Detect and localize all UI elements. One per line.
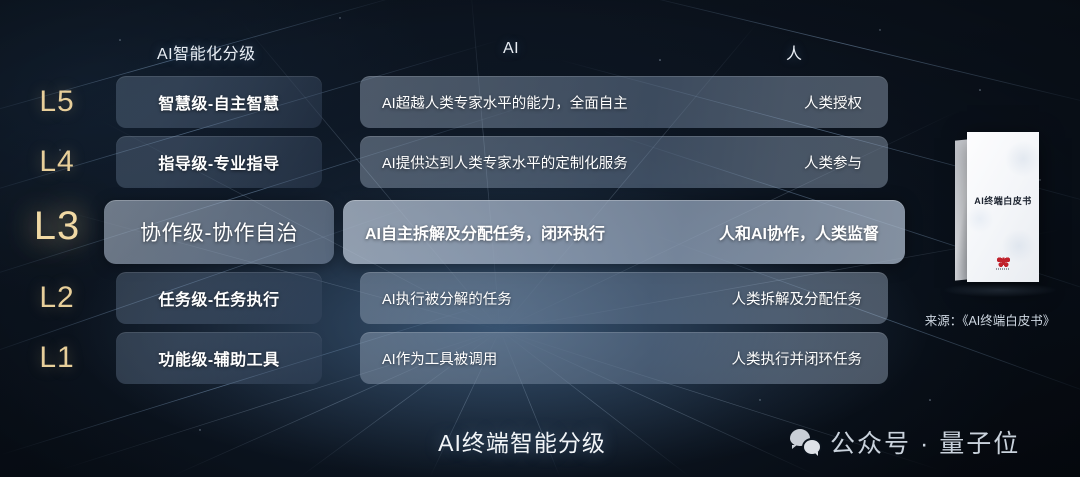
level-row-l3[interactable]: L3 协作级-协作自治 AI自主拆解及分配任务，闭环执行 人和AI协作，人类监督 bbox=[0, 200, 1080, 264]
chart-title-text: AI终端智能分级 bbox=[438, 430, 606, 456]
human-description: 人类执行并闭环任务 bbox=[732, 348, 863, 369]
level-detail-pill-l3[interactable]: AI自主拆解及分配任务，闭环执行 人和AI协作，人类监督 bbox=[343, 200, 905, 264]
level-detail-pill-l2[interactable]: AI执行被分解的任务 人类拆解及分配任务 bbox=[360, 272, 888, 324]
column-header-level: AI智能化分级 bbox=[157, 40, 256, 64]
level-row-l1[interactable]: L1 功能级-辅助工具 AI作为工具被调用 人类执行并闭环任务 bbox=[0, 332, 1080, 384]
level-name-pill-l1[interactable]: 功能级-辅助工具 bbox=[116, 332, 322, 384]
level-badge-l2: L2 bbox=[22, 272, 92, 324]
level-row-l4[interactable]: L4 指导级-专业指导 AI提供达到人类专家水平的定制化服务 人类参与 bbox=[0, 136, 1080, 188]
watermark-text: 公众号 · 量子位 bbox=[830, 424, 1020, 460]
human-description: 人和AI协作，人类监督 bbox=[719, 220, 879, 244]
human-description: 人类参与 bbox=[804, 152, 862, 173]
wechat-bubble-small bbox=[804, 440, 820, 454]
level-name-pill-l4[interactable]: 指导级-专业指导 bbox=[116, 136, 322, 188]
ai-description: AI提供达到人类专家水平的定制化服务 bbox=[382, 152, 628, 173]
watermark: 公众号 · 量子位 bbox=[790, 424, 1020, 460]
column-header-ai: AI bbox=[503, 40, 519, 58]
whitepaper-book-image: AI终端白皮书 bbox=[955, 132, 1045, 282]
brand-wordmark bbox=[996, 268, 1010, 270]
wechat-icon bbox=[790, 429, 820, 455]
level-name-label: 功能级-辅助工具 bbox=[158, 346, 279, 370]
slide-canvas: AI智能化分级 AI 人 L5 智慧级-自主智慧 AI超越人类专家水平的能力，全… bbox=[0, 0, 1080, 477]
column-header-human: 人 bbox=[786, 40, 803, 64]
level-badge-l4: L4 bbox=[22, 136, 92, 188]
ai-description: AI超越人类专家水平的能力，全面自主 bbox=[382, 92, 628, 113]
level-name-pill-l5[interactable]: 智慧级-自主智慧 bbox=[116, 76, 322, 128]
level-name-label: 协作级-协作自治 bbox=[140, 217, 298, 247]
level-name-label: 任务级-任务执行 bbox=[158, 286, 279, 310]
book-shadow bbox=[944, 283, 1056, 297]
level-name-pill-l2[interactable]: 任务级-任务执行 bbox=[116, 272, 322, 324]
level-name-label: 指导级-专业指导 bbox=[158, 150, 279, 174]
level-detail-pill-l1[interactable]: AI作为工具被调用 人类执行并闭环任务 bbox=[360, 332, 888, 384]
ai-description: AI执行被分解的任务 bbox=[382, 288, 512, 309]
level-name-pill-l3[interactable]: 协作级-协作自治 bbox=[104, 200, 334, 264]
book-cover: AI终端白皮书 bbox=[967, 132, 1039, 282]
level-name-label: 智慧级-自主智慧 bbox=[158, 90, 279, 114]
human-description: 人类拆解及分配任务 bbox=[732, 288, 863, 309]
level-badge-l3: L3 bbox=[22, 200, 92, 252]
flower-petals bbox=[997, 255, 1010, 267]
source-note: 来源：《AI终端白皮书》 bbox=[900, 310, 1080, 329]
level-detail-pill-l4[interactable]: AI提供达到人类专家水平的定制化服务 人类参与 bbox=[360, 136, 888, 188]
book-cover-title: AI终端白皮书 bbox=[967, 194, 1039, 207]
level-badge-l5: L5 bbox=[22, 76, 92, 128]
level-row-l5[interactable]: L5 智慧级-自主智慧 AI超越人类专家水平的能力，全面自主 人类授权 bbox=[0, 76, 1080, 128]
level-detail-pill-l5[interactable]: AI超越人类专家水平的能力，全面自主 人类授权 bbox=[360, 76, 888, 128]
level-badge-l1: L1 bbox=[22, 332, 92, 384]
ai-description: AI自主拆解及分配任务，闭环执行 bbox=[365, 220, 605, 244]
huawei-flower-logo-icon bbox=[995, 250, 1011, 270]
human-description: 人类授权 bbox=[804, 92, 862, 113]
ai-description: AI作为工具被调用 bbox=[382, 348, 497, 369]
